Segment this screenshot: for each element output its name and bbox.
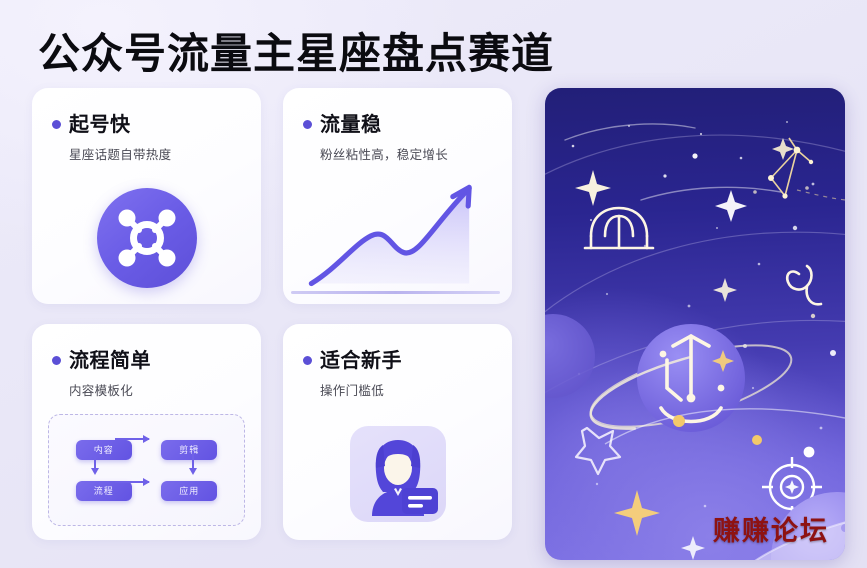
card-artwork [283, 408, 512, 540]
flow-node-4: 应用 [161, 481, 217, 501]
card-header: 起号快 星座话题自带热度 [52, 108, 249, 163]
person-avatar-glyph [350, 426, 446, 522]
flow-diagram-icon: 内容 剪辑 流程 应用 [48, 414, 245, 526]
card-artwork: 内容 剪辑 流程 应用 [32, 408, 261, 540]
card-subtitle: 操作门槛低 [320, 380, 500, 399]
card-artwork [283, 172, 512, 304]
page-title: 公众号流量主星座盘点赛道 [38, 20, 554, 81]
starfield-svg [545, 88, 845, 560]
flow-arrow-right-bottom [115, 481, 149, 483]
card-header: 流量稳 粉丝粘性高，稳定增长 [303, 108, 500, 163]
card-title: 适合新手 [320, 344, 402, 373]
leo-glyph [787, 266, 821, 304]
card-title: 起号快 [69, 108, 131, 137]
bullet-dot-icon [52, 356, 61, 365]
card-subtitle: 内容模板化 [69, 380, 249, 399]
card-subtitle: 粉丝粘性高，稳定增长 [320, 144, 500, 163]
network-nodes-icon [97, 188, 197, 288]
feature-card-grid: 起号快 星座话题自带热度 [32, 88, 529, 540]
person-avatar-icon [350, 426, 446, 522]
bullet-dot-icon [52, 120, 61, 129]
card-artwork [32, 172, 261, 304]
sagittarius-constellation [771, 138, 811, 196]
libra-glyph [585, 208, 653, 248]
forum-watermark: 赚赚论坛 [713, 509, 829, 548]
feature-card-liuchengjiandan[interactable]: 流程简单 内容模板化 内容 剪辑 流程 应用 [32, 324, 261, 540]
bullet-dot-icon [303, 356, 312, 365]
growth-chart-icon [297, 176, 502, 298]
star-outline [576, 428, 620, 474]
flow-arrow-down-right [192, 451, 194, 469]
flow-node-3: 流程 [76, 481, 132, 501]
flow-node-1: 内容 [76, 440, 132, 460]
feature-card-qihaokuai[interactable]: 起号快 星座话题自带热度 [32, 88, 261, 304]
chart-baseline [291, 291, 500, 294]
card-title: 流量稳 [320, 108, 382, 137]
feature-card-shihexinshou[interactable]: 适合新手 操作门槛低 [283, 324, 512, 540]
network-nodes-glyph [97, 188, 197, 288]
poster-root: 公众号流量主星座盘点赛道 起号快 星座话题自带热度 [0, 0, 867, 568]
card-subtitle: 星座话题自带热度 [69, 144, 249, 163]
flow-node-2: 剪辑 [161, 440, 217, 460]
feature-card-liuliangwen[interactable]: 流量稳 粉丝粘性高，稳定增长 [283, 88, 512, 304]
card-title: 流程简单 [69, 344, 151, 373]
card-header: 流程简单 内容模板化 [52, 344, 249, 399]
card-header: 适合新手 操作门槛低 [303, 344, 500, 399]
flow-arrow-down-left [94, 451, 96, 469]
bullet-dot-icon [303, 120, 312, 129]
zodiac-starfield-illustration: 赚赚论坛 [545, 88, 845, 560]
flow-arrow-right-top [115, 438, 149, 440]
